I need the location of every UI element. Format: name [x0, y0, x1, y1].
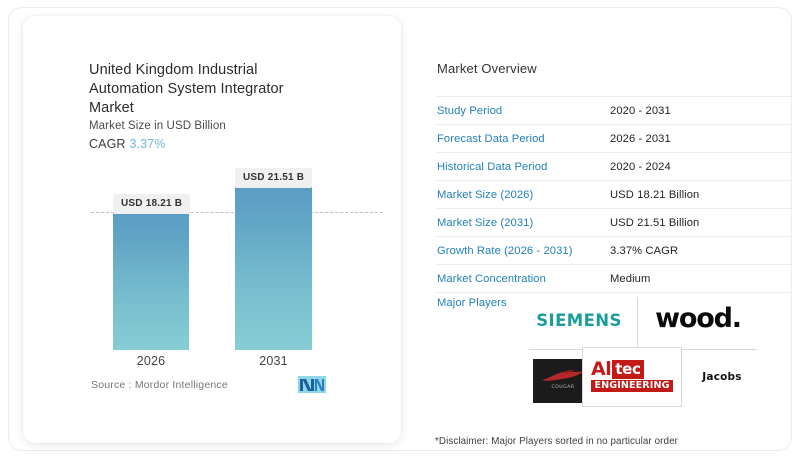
row-label: Market Size (2031) — [435, 217, 610, 229]
disclaimer-text: *Disclaimer: Major Players sorted in no … — [435, 436, 678, 447]
row-value: USD 18.21 Billion — [610, 189, 699, 201]
row-value: 3.37% CAGR — [610, 245, 678, 257]
row-value: 2020 - 2031 — [610, 105, 671, 117]
logo-siemens: SIEMENS — [527, 311, 631, 330]
major-players-logos: SIEMENS wood. COUGAR Al tec — [519, 297, 757, 407]
bar-value-label-2026: USD 18.21 B — [113, 194, 190, 214]
logo-altec-wrap: Al tec ENGINEERING — [591, 360, 673, 392]
x-axis-label-2026: 2026 — [113, 354, 189, 368]
table-row: Market Size (2031) USD 21.51 Billion — [435, 209, 793, 237]
logo-altec-al: Al — [591, 360, 611, 379]
row-label: Study Period — [435, 105, 610, 117]
cougar-mark-icon — [540, 369, 586, 385]
mordor-intelligence-logo — [298, 376, 326, 393]
x-axis-label-2031: 2031 — [235, 354, 312, 368]
row-value: 2020 - 2024 — [610, 161, 671, 173]
logo-divider — [637, 297, 638, 349]
source-text: Source : Mordor Intelligence — [91, 379, 228, 391]
row-label: Market Size (2026) — [435, 189, 610, 201]
table-row: Growth Rate (2026 - 2031) 3.37% CAGR — [435, 237, 793, 265]
row-value: 2026 - 2031 — [610, 133, 671, 145]
bar-value-label-2031: USD 21.51 B — [235, 168, 312, 188]
row-label: Market Concentration — [435, 273, 610, 285]
logo-altec-top: Al tec — [591, 360, 673, 379]
market-overview-panel: Market Overview Study Period 2020 - 2031… — [421, 16, 793, 443]
table-row: Market Size (2026) USD 18.21 Billion — [435, 181, 793, 209]
row-value: Medium — [610, 273, 650, 285]
table-row: Forecast Data Period 2026 - 2031 — [435, 125, 793, 153]
overview-heading: Market Overview — [437, 61, 537, 76]
table-row: Study Period 2020 - 2031 — [435, 96, 793, 125]
overview-table: Study Period 2020 - 2031 Forecast Data P… — [435, 96, 793, 323]
row-label: Historical Data Period — [435, 161, 610, 173]
logo-altec: Al tec ENGINEERING — [582, 347, 682, 407]
bar-2031 — [235, 186, 312, 350]
logo-jacobs: Jacobs — [689, 371, 755, 383]
logo-altec-sub: ENGINEERING — [591, 380, 673, 392]
table-row: Market Concentration Medium — [435, 265, 793, 293]
logo-wood: wood. — [643, 303, 753, 334]
bar-2026 — [113, 212, 189, 350]
screenshot-root: United Kingdom Industrial Automation Sys… — [0, 0, 800, 459]
row-label: Forecast Data Period — [435, 133, 610, 145]
logo-altec-tec: tec — [612, 360, 643, 379]
table-row: Historical Data Period 2020 - 2024 — [435, 153, 793, 181]
report-card: United Kingdom Industrial Automation Sys… — [8, 7, 792, 451]
chart-panel: United Kingdom Industrial Automation Sys… — [23, 16, 401, 443]
row-label: Growth Rate (2026 - 2031) — [435, 245, 610, 257]
row-value: USD 21.51 Billion — [610, 217, 699, 229]
